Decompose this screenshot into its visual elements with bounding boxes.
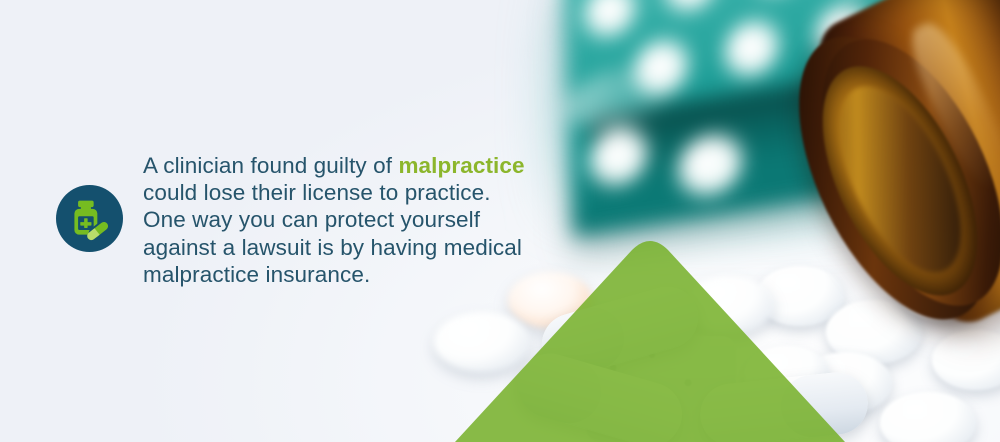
medication-icon-glyph — [68, 197, 112, 241]
headline-segment-5: malpractice insurance. — [143, 262, 370, 287]
banner-copy: A clinician found guilty of malpracticec… — [143, 152, 613, 288]
banner-content: A clinician found guilty of malpracticec… — [0, 0, 1000, 442]
headline-highlight-malpractice: malpractice — [398, 153, 524, 178]
malpractice-insurance-banner: A clinician found guilty of malpracticec… — [0, 0, 1000, 442]
headline-segment-1: A clinician found guilty of — [143, 153, 398, 178]
pill-bottle-and-capsule-icon — [56, 185, 123, 252]
headline-segment-4: against a lawsuit is by having medical — [143, 235, 522, 260]
banner-headline: A clinician found guilty of malpracticec… — [143, 152, 613, 288]
headline-segment-3: One way you can protect yourself — [143, 207, 480, 232]
headline-segment-2: could lose their license to practice. — [143, 180, 491, 205]
